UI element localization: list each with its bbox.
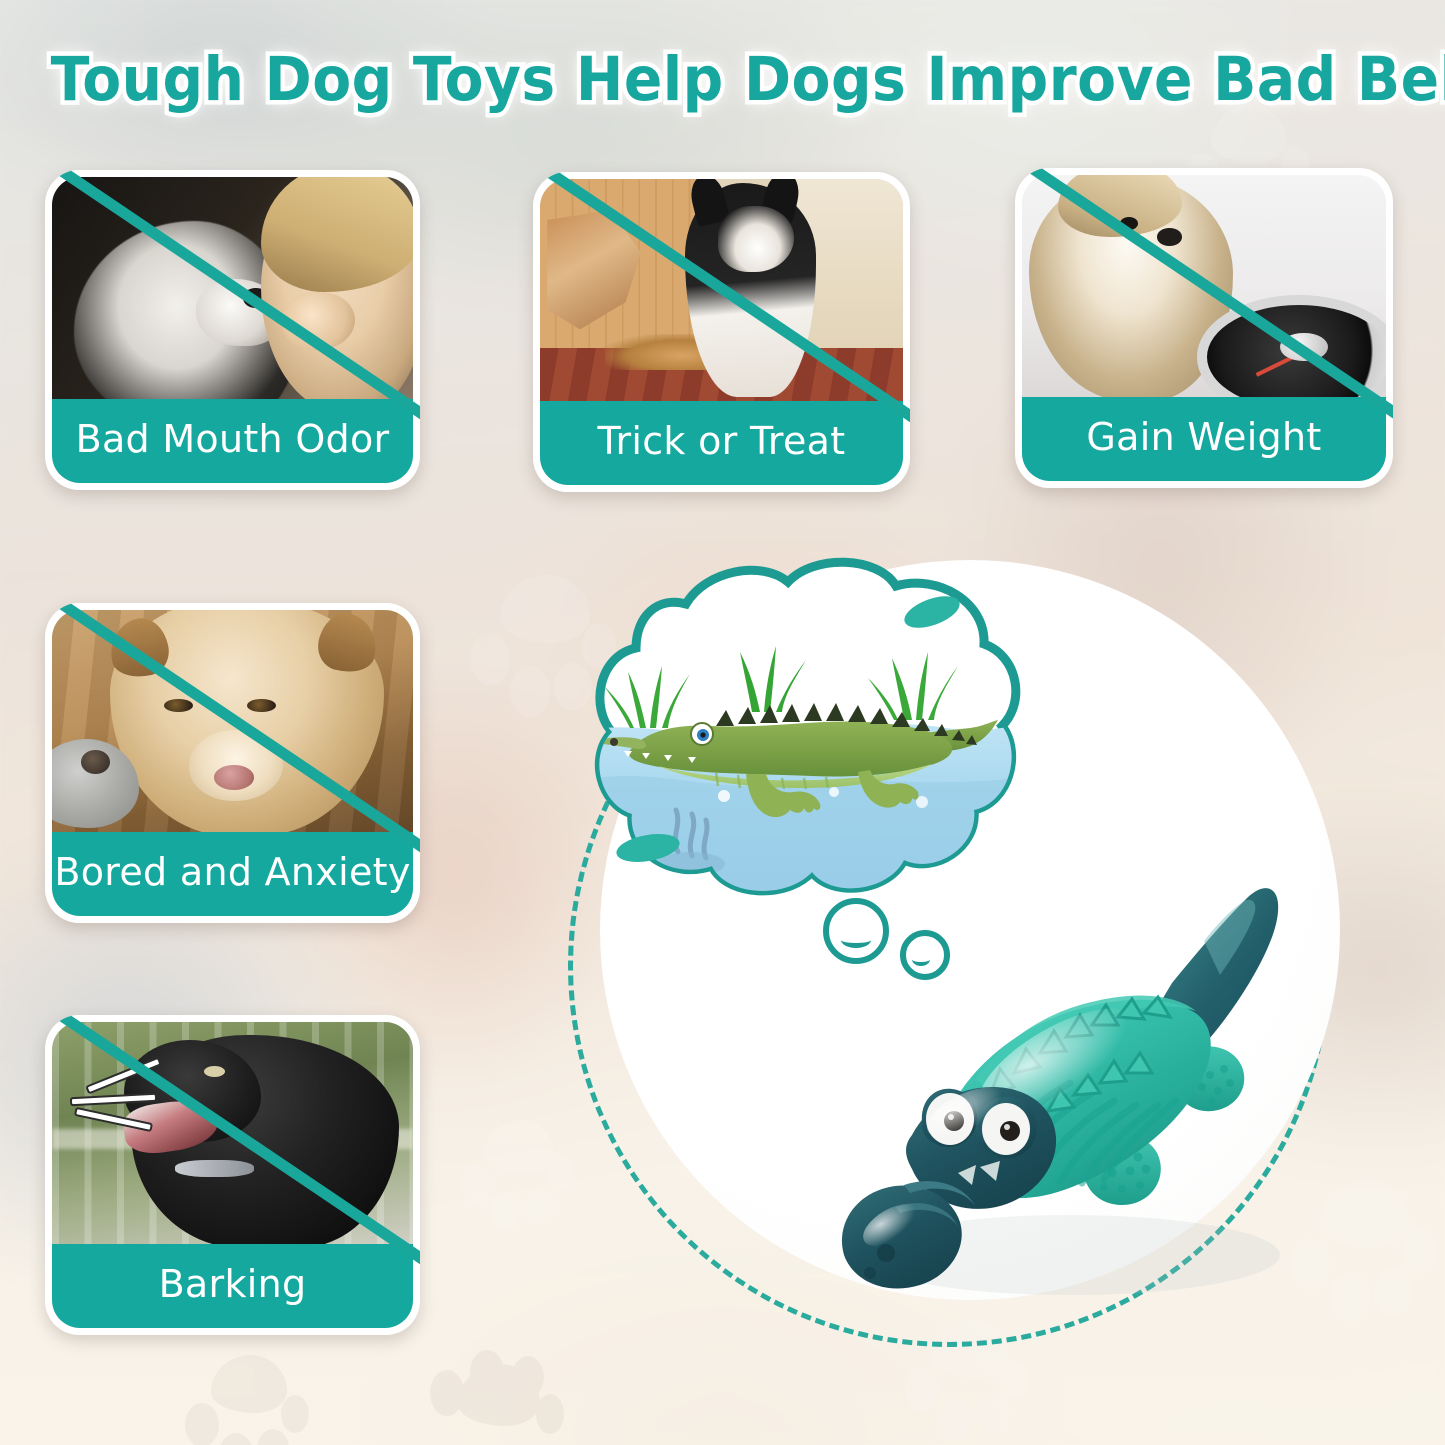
problem-card-bored-and-anxiety[interactable]: Bored and Anxiety xyxy=(45,603,420,923)
card-label: Gain Weight xyxy=(1022,397,1386,481)
card-photo-bored-and-anxiety xyxy=(52,610,413,832)
problem-card-bad-mouth-odor[interactable]: Bad Mouth Odor xyxy=(45,170,420,490)
card-photo-trick-or-treat xyxy=(540,179,903,401)
card-label: Barking xyxy=(52,1244,413,1328)
problem-card-barking[interactable]: Barking xyxy=(45,1015,420,1335)
problem-card-gain-weight[interactable]: Gain Weight xyxy=(1015,168,1393,488)
product-image-crocodile-chew-toy[interactable] xyxy=(800,855,1320,1335)
paw-print-icon xyxy=(430,1350,560,1445)
problem-card-trick-or-treat[interactable]: Trick or Treat xyxy=(533,172,910,492)
card-label: Bored and Anxiety xyxy=(52,832,413,916)
card-label: Bad Mouth Odor xyxy=(52,399,413,483)
card-photo-bad-mouth-odor xyxy=(52,177,413,399)
paw-print-icon xyxy=(185,1355,305,1445)
card-photo-gain-weight xyxy=(1022,175,1386,397)
page-title: Tough Dog Toys Help Dogs Improve Bad Beh… xyxy=(51,44,1395,115)
infographic-canvas: Tough Dog Toys Help Dogs Improve Bad Beh… xyxy=(0,0,1445,1445)
card-photo-barking xyxy=(52,1022,413,1244)
paw-print-icon xyxy=(460,1120,570,1240)
card-label: Trick or Treat xyxy=(540,401,903,485)
